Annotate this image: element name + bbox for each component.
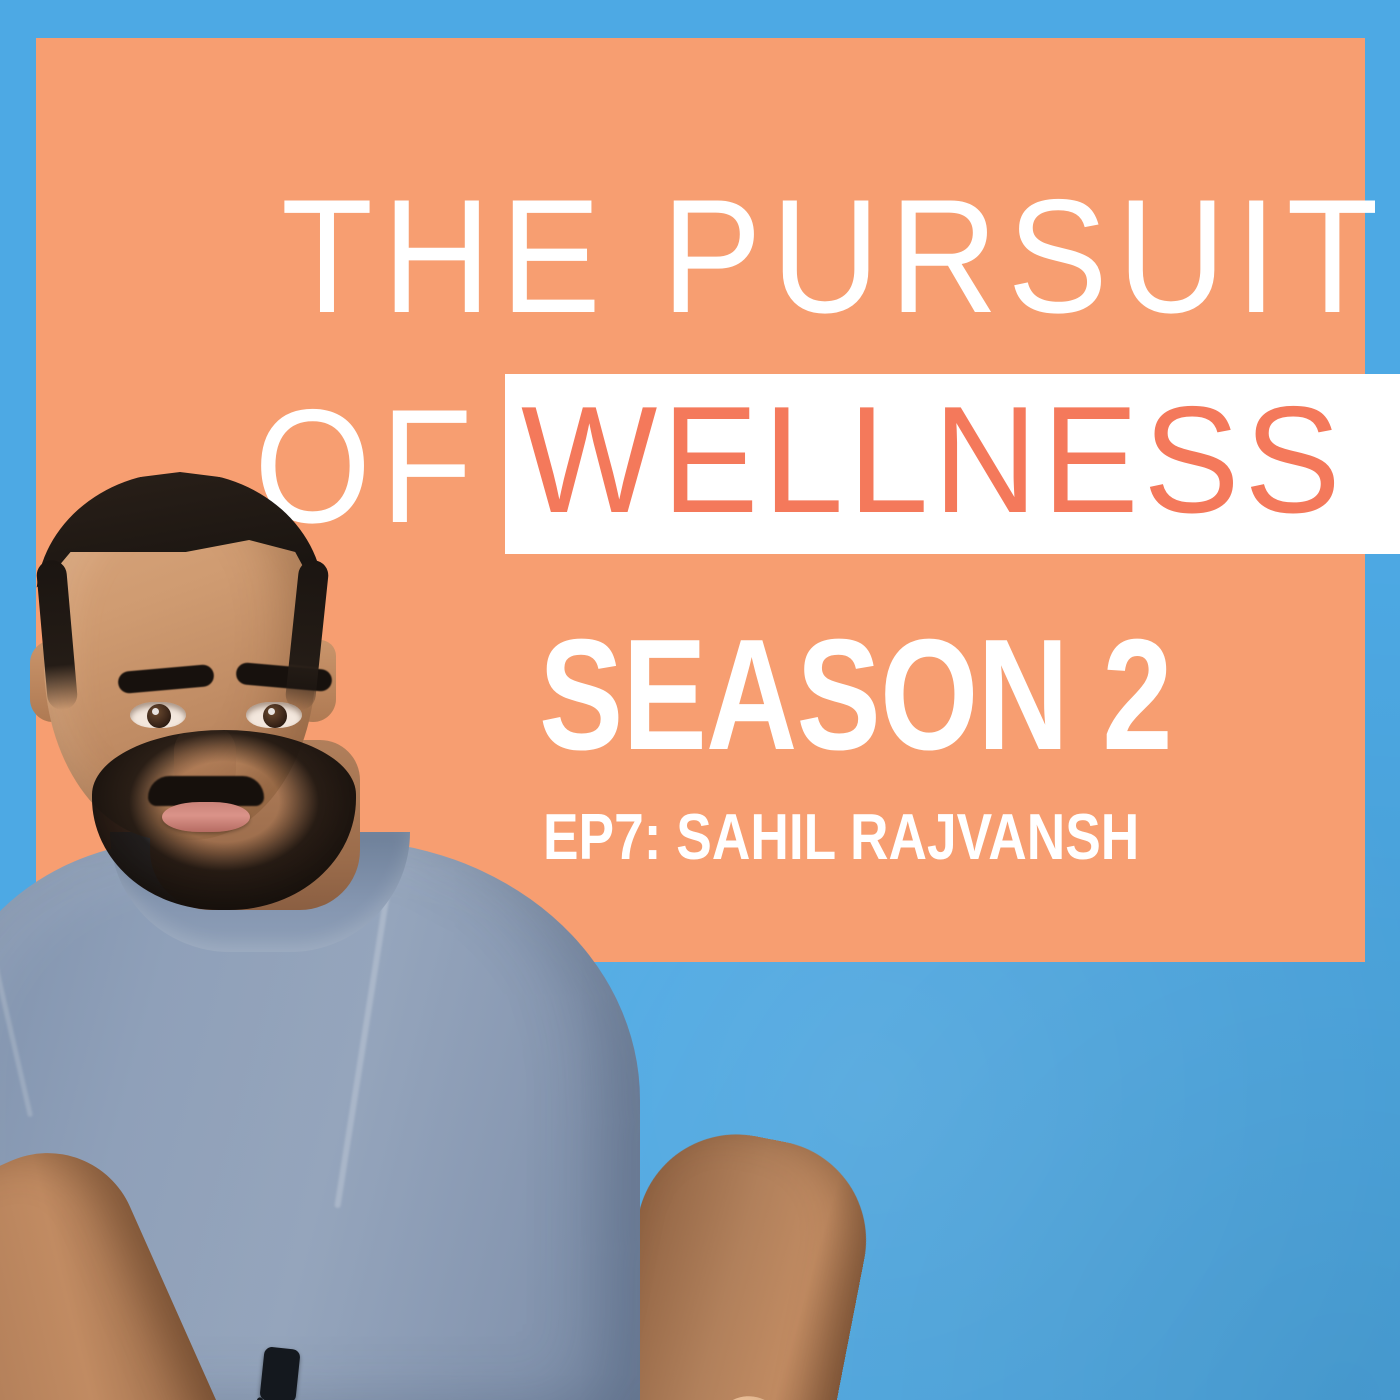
host-iris-left xyxy=(147,704,171,728)
title-line-one: THE PURSUIT xyxy=(281,176,1388,338)
host-portrait xyxy=(0,440,900,1400)
lavalier-mic-icon xyxy=(259,1346,300,1400)
host-iris-right xyxy=(263,704,287,728)
host-lips xyxy=(162,802,250,832)
host-eyebrow-left xyxy=(117,664,215,694)
host-eye-left xyxy=(130,702,186,728)
podcast-cover-art: THE PURSUIT OF WELLNESS SEASON 2 EP7: SA… xyxy=(0,0,1400,1400)
